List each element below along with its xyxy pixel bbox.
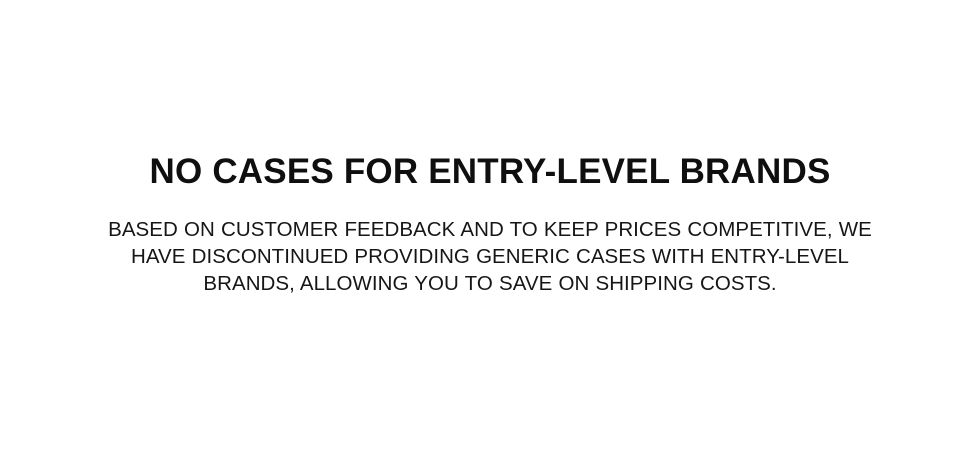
promo-description: BASED ON CUSTOMER FEEDBACK AND TO KEEP P… <box>94 216 886 297</box>
promo-content-wrapper: NO CASES FOR ENTRY-LEVEL BRANDS BASED ON… <box>50 152 930 297</box>
promo-heading: NO CASES FOR ENTRY-LEVEL BRANDS <box>50 152 930 192</box>
promo-banner-section: NO CASES FOR ENTRY-LEVEL BRANDS BASED ON… <box>0 0 980 450</box>
